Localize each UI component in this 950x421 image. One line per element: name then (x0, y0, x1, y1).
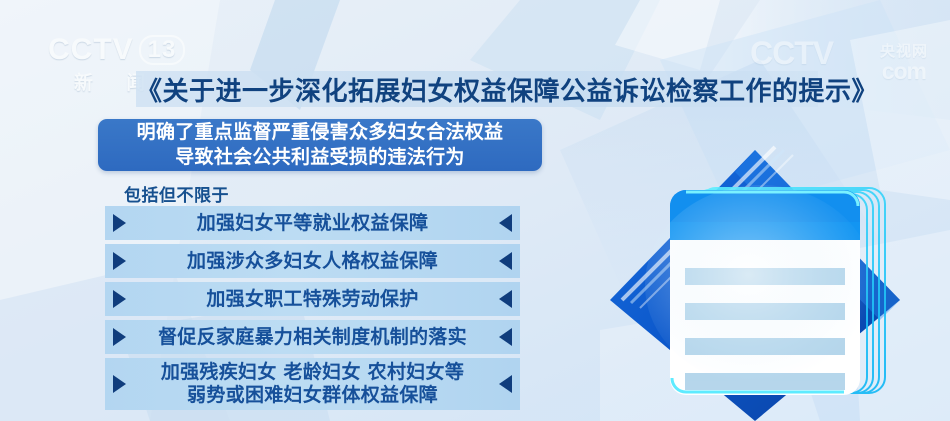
list-item-label: 加强残疾妇女 老龄妇女 农村妇女等 弱势或困难妇女群体权益保障 (126, 361, 499, 407)
list-item-label: 加强涉众多妇女人格权益保障 (126, 250, 499, 273)
list-item-label: 加强女职工特殊劳动保护 (126, 288, 499, 311)
broadcast-graphic-slide: CCTV13 新 闻 CCTV 央视网 com 《关于进一步深化拓展妇女权益保障… (0, 0, 950, 421)
triangle-right-icon (113, 375, 126, 393)
highlight-line-1: 明确了重点监督严重侵害众多妇女合法权益 (137, 120, 504, 145)
list-item: 督促反家庭暴力相关制度机制的落实 (105, 320, 520, 354)
triangle-right-icon (113, 252, 126, 270)
triangle-right-icon (113, 290, 126, 308)
list-item-label-line-2: 弱势或困难妇女群体权益保障 (126, 384, 499, 407)
triangle-left-icon (499, 375, 512, 393)
cctv-wordmark: CCTV (48, 33, 134, 66)
list-item: 加强残疾妇女 老龄妇女 农村妇女等 弱势或困难妇女群体权益保障 (105, 358, 520, 410)
channel-number: 13 (139, 35, 186, 65)
highlight-callout-box: 明确了重点监督严重侵害众多妇女合法权益 导致社会公共利益受损的违法行为 (98, 119, 542, 171)
list-item: 加强涉众多妇女人格权益保障 (105, 244, 520, 278)
cctv13-logo-text: CCTV13 (48, 34, 208, 66)
page-title: 《关于进一步深化拓展妇女权益保障公益诉讼检察工作的提示》 (136, 68, 826, 110)
section-label-including: 包括但不限于 (124, 181, 229, 206)
document-stack-icon (645, 185, 885, 395)
triangle-left-icon (499, 252, 512, 270)
highlight-line-2: 导致社会公共利益受损的违法行为 (175, 145, 465, 170)
triangle-left-icon (499, 290, 512, 308)
bullet-list: 加强妇女平等就业权益保障 加强涉众多妇女人格权益保障 加强女职工特殊劳动保护 督… (105, 206, 520, 414)
list-item: 加强女职工特殊劳动保护 (105, 282, 520, 316)
list-item: 加强妇女平等就业权益保障 (105, 206, 520, 240)
triangle-left-icon (499, 328, 512, 346)
watermark-domain: com (882, 58, 926, 85)
list-item-label: 加强妇女平等就业权益保障 (126, 212, 499, 235)
triangle-left-icon (499, 214, 512, 232)
list-item-label: 督促反家庭暴力相关制度机制的落实 (126, 326, 499, 349)
triangle-right-icon (113, 328, 126, 346)
list-item-label-line-1: 加强残疾妇女 老龄妇女 农村妇女等 (161, 361, 464, 383)
triangle-right-icon (113, 214, 126, 232)
